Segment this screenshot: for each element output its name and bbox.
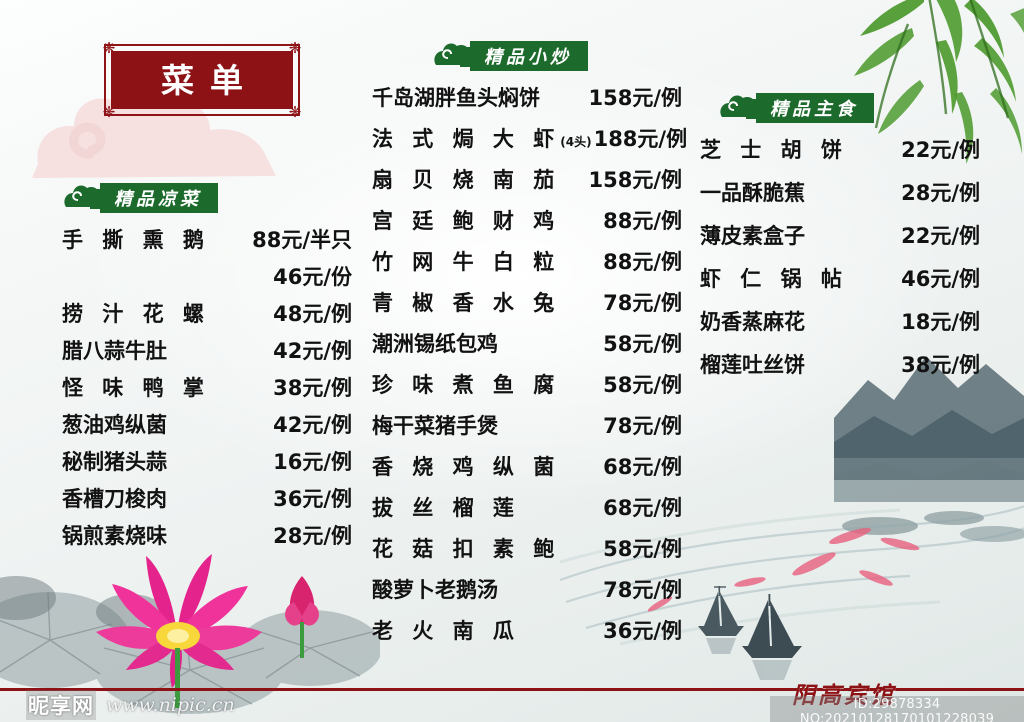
dish-name: 薄皮素盒子: [700, 220, 805, 250]
dish-row: 梅干菜猪手煲 78元/例: [372, 410, 682, 451]
section-cold-dishes: 精品凉菜 手 撕 熏 鹅 88元/半只 46元/份 捞 汁 花 螺 48元/例 …: [62, 182, 352, 557]
dish-row: 竹 网 牛 白 粒 88元/例: [372, 246, 682, 287]
dish-row: 捞 汁 花 螺 48元/例: [62, 298, 352, 335]
section-banner-stir: 精品小炒: [470, 41, 588, 71]
dish-row: 葱油鸡纵菌 42元/例: [62, 409, 352, 446]
section-banner-staple: 精品主食: [756, 93, 874, 123]
dish-row: 扇 贝 烧 南 茄 158元/例: [372, 164, 682, 205]
dish-price: 58元/例: [603, 533, 682, 563]
watermark-logo: 昵享网: [26, 690, 96, 720]
dish-row: 酸萝卜老鹅汤 78元/例: [372, 574, 682, 615]
dish-price: 158元/例: [588, 82, 682, 112]
dish-name: 潮洲锡纸包鸡: [372, 328, 498, 358]
dish-price-group: (4头) 188元/例: [560, 123, 687, 153]
dish-price: 88元/例: [603, 205, 682, 235]
section-banner-label: 精品小炒: [484, 43, 572, 69]
title-plaque-inner: 菜单: [111, 51, 293, 109]
section-banner-cold: 精品凉菜: [100, 183, 218, 213]
dish-price: 58元/例: [603, 369, 682, 399]
dish-name: 法 式 焗 大 虾: [372, 123, 560, 153]
dish-list-staple: 芝 士 胡 饼 22元/例 一品酥脆蕉 28元/例 薄皮素盒子 22元/例 虾 …: [700, 134, 980, 392]
dish-name: 手 撕 熏 鹅: [62, 224, 210, 254]
dish-name: 花 菇 扣 素 鲍: [372, 533, 560, 563]
dish-price: 78元/例: [603, 410, 682, 440]
dish-name: 芝 士 胡 饼: [700, 134, 848, 164]
dish-name: 榴莲吐丝饼: [700, 349, 805, 379]
menu-title-plaque: ❋ ❋ ❋ ❋ 菜单: [104, 44, 300, 116]
dish-price: 68元/例: [603, 451, 682, 481]
page-title: 菜单: [145, 64, 259, 97]
dish-name: 青 椒 香 水 兔: [372, 287, 560, 317]
dish-price: 38元/例: [273, 372, 352, 402]
dish-row: 千岛湖胖鱼头焖饼 158元/例: [372, 82, 682, 123]
dish-row: 珍 味 煮 鱼 腐 58元/例: [372, 369, 682, 410]
image-id-watermark: ID:29878334 NO:20210128170101228039: [770, 696, 1024, 722]
dish-name: 酸萝卜老鹅汤: [372, 574, 498, 604]
dish-row: 芝 士 胡 饼 22元/例: [700, 134, 980, 177]
dish-price: 78元/例: [603, 574, 682, 604]
dish-row: 秘制猪头蒜 16元/例: [62, 446, 352, 483]
dish-price: 16元/例: [273, 446, 352, 476]
dish-name: 捞 汁 花 螺: [62, 298, 210, 328]
dish-subprice: 46元/份: [273, 261, 352, 298]
dish-name: 一品酥脆蕉: [700, 177, 805, 207]
dish-price: 88元/半只: [252, 224, 352, 254]
corner-ornament-icon: ❋: [101, 40, 117, 56]
dish-name: 宫 廷 鲍 财 鸡: [372, 205, 560, 235]
dish-name: 腊八蒜牛肚: [62, 335, 167, 365]
dish-price: 28元/例: [273, 520, 352, 550]
dish-price: 48元/例: [273, 298, 352, 328]
dish-row: 腊八蒜牛肚 42元/例: [62, 335, 352, 372]
dish-price: 68元/例: [603, 492, 682, 522]
dish-name: 葱油鸡纵菌: [62, 409, 167, 439]
dish-row: 法 式 焗 大 虾 (4头) 188元/例: [372, 123, 682, 164]
dish-row: 拔 丝 榴 莲 68元/例: [372, 492, 682, 533]
dish-price: 42元/例: [273, 335, 352, 365]
dish-price: 58元/例: [603, 328, 682, 358]
section-stir-fry: 精品小炒 千岛湖胖鱼头焖饼 158元/例 法 式 焗 大 虾 (4头) 188元…: [372, 40, 682, 656]
sailboats-icon: [690, 580, 840, 685]
dish-row: 一品酥脆蕉 28元/例: [700, 177, 980, 220]
dish-name: 珍 味 煮 鱼 腐: [372, 369, 560, 399]
dish-row: 老 火 南 瓜 36元/例: [372, 615, 682, 656]
corner-ornament-icon: ❋: [287, 40, 303, 56]
dish-price: 22元/例: [901, 134, 980, 164]
section-header-cold: 精品凉菜: [62, 182, 352, 214]
corner-ornament-icon: ❋: [287, 104, 303, 120]
dish-row: 怪 味 鸭 掌 38元/例: [62, 372, 352, 409]
dish-price: 28元/例: [901, 177, 980, 207]
dish-subprice-row: 46元/份: [62, 261, 352, 298]
corner-ornament-icon: ❋: [101, 104, 117, 120]
dish-row: 奶香蒸麻花 18元/例: [700, 306, 980, 349]
dish-name: 虾 仁 锅 帖: [700, 263, 848, 293]
dish-row: 香槽刀梭肉 36元/例: [62, 483, 352, 520]
dish-name: 香槽刀梭肉: [62, 483, 167, 513]
lotus-flower-icon: [78, 548, 278, 708]
section-banner-label: 精品主食: [770, 95, 858, 121]
dish-name: 扇 贝 烧 南 茄: [372, 164, 560, 194]
dish-list-cold: 手 撕 熏 鹅 88元/半只 46元/份 捞 汁 花 螺 48元/例 腊八蒜牛肚…: [62, 224, 352, 557]
dish-name: 锅煎素烧味: [62, 520, 167, 550]
menu-page: ❋ ❋ ❋ ❋ 菜单 精品凉菜 手 撕 熏 鹅 88元/半只 46元/份: [0, 0, 1024, 722]
dish-name: 怪 味 鸭 掌: [62, 372, 210, 402]
section-header-staple: 精品主食: [700, 92, 980, 124]
dish-name: 老 火 南 瓜: [372, 615, 520, 645]
dish-name: 梅干菜猪手煲: [372, 410, 498, 440]
dish-note: (4头): [560, 133, 591, 150]
dish-row: 青 椒 香 水 兔 78元/例: [372, 287, 682, 328]
dish-row: 潮洲锡纸包鸡 58元/例: [372, 328, 682, 369]
dish-price: 188元/例: [594, 123, 688, 153]
dish-price: 38元/例: [901, 349, 980, 379]
section-header-stir: 精品小炒: [372, 40, 682, 72]
dish-price: 22元/例: [901, 220, 980, 250]
dish-row: 宫 廷 鲍 财 鸡 88元/例: [372, 205, 682, 246]
dish-name: 秘制猪头蒜: [62, 446, 167, 476]
dish-row: 香 烧 鸡 纵 菌 68元/例: [372, 451, 682, 492]
dish-price: 36元/例: [273, 483, 352, 513]
site-watermark: 昵享网 www.nipic.cn: [26, 690, 235, 720]
lotus-bud-icon: [272, 570, 332, 660]
dish-row: 虾 仁 锅 帖 46元/例: [700, 263, 980, 306]
section-banner-label: 精品凉菜: [114, 185, 202, 211]
dish-row: 花 菇 扣 素 鲍 58元/例: [372, 533, 682, 574]
dish-name: 千岛湖胖鱼头焖饼: [372, 82, 540, 112]
dish-price: 42元/例: [273, 409, 352, 439]
dish-name: 香 烧 鸡 纵 菌: [372, 451, 560, 481]
dish-list-stir: 千岛湖胖鱼头焖饼 158元/例 法 式 焗 大 虾 (4头) 188元/例 扇 …: [372, 82, 682, 656]
dish-name: 奶香蒸麻花: [700, 306, 805, 336]
dish-price: 88元/例: [603, 246, 682, 276]
dish-price: 18元/例: [901, 306, 980, 336]
dish-name: 拔 丝 榴 莲: [372, 492, 520, 522]
dish-row: 榴莲吐丝饼 38元/例: [700, 349, 980, 392]
dish-row: 薄皮素盒子 22元/例: [700, 220, 980, 263]
dish-price: 46元/例: [901, 263, 980, 293]
dish-price: 158元/例: [588, 164, 682, 194]
dish-row: 手 撕 熏 鹅 88元/半只: [62, 224, 352, 261]
dish-price: 78元/例: [603, 287, 682, 317]
watermark-url: www.nipic.cn: [106, 694, 235, 716]
section-staples: 精品主食 芝 士 胡 饼 22元/例 一品酥脆蕉 28元/例 薄皮素盒子 22元…: [700, 92, 980, 392]
dish-price: 36元/例: [603, 615, 682, 645]
dish-name: 竹 网 牛 白 粒: [372, 246, 560, 276]
dish-row: 锅煎素烧味 28元/例: [62, 520, 352, 557]
